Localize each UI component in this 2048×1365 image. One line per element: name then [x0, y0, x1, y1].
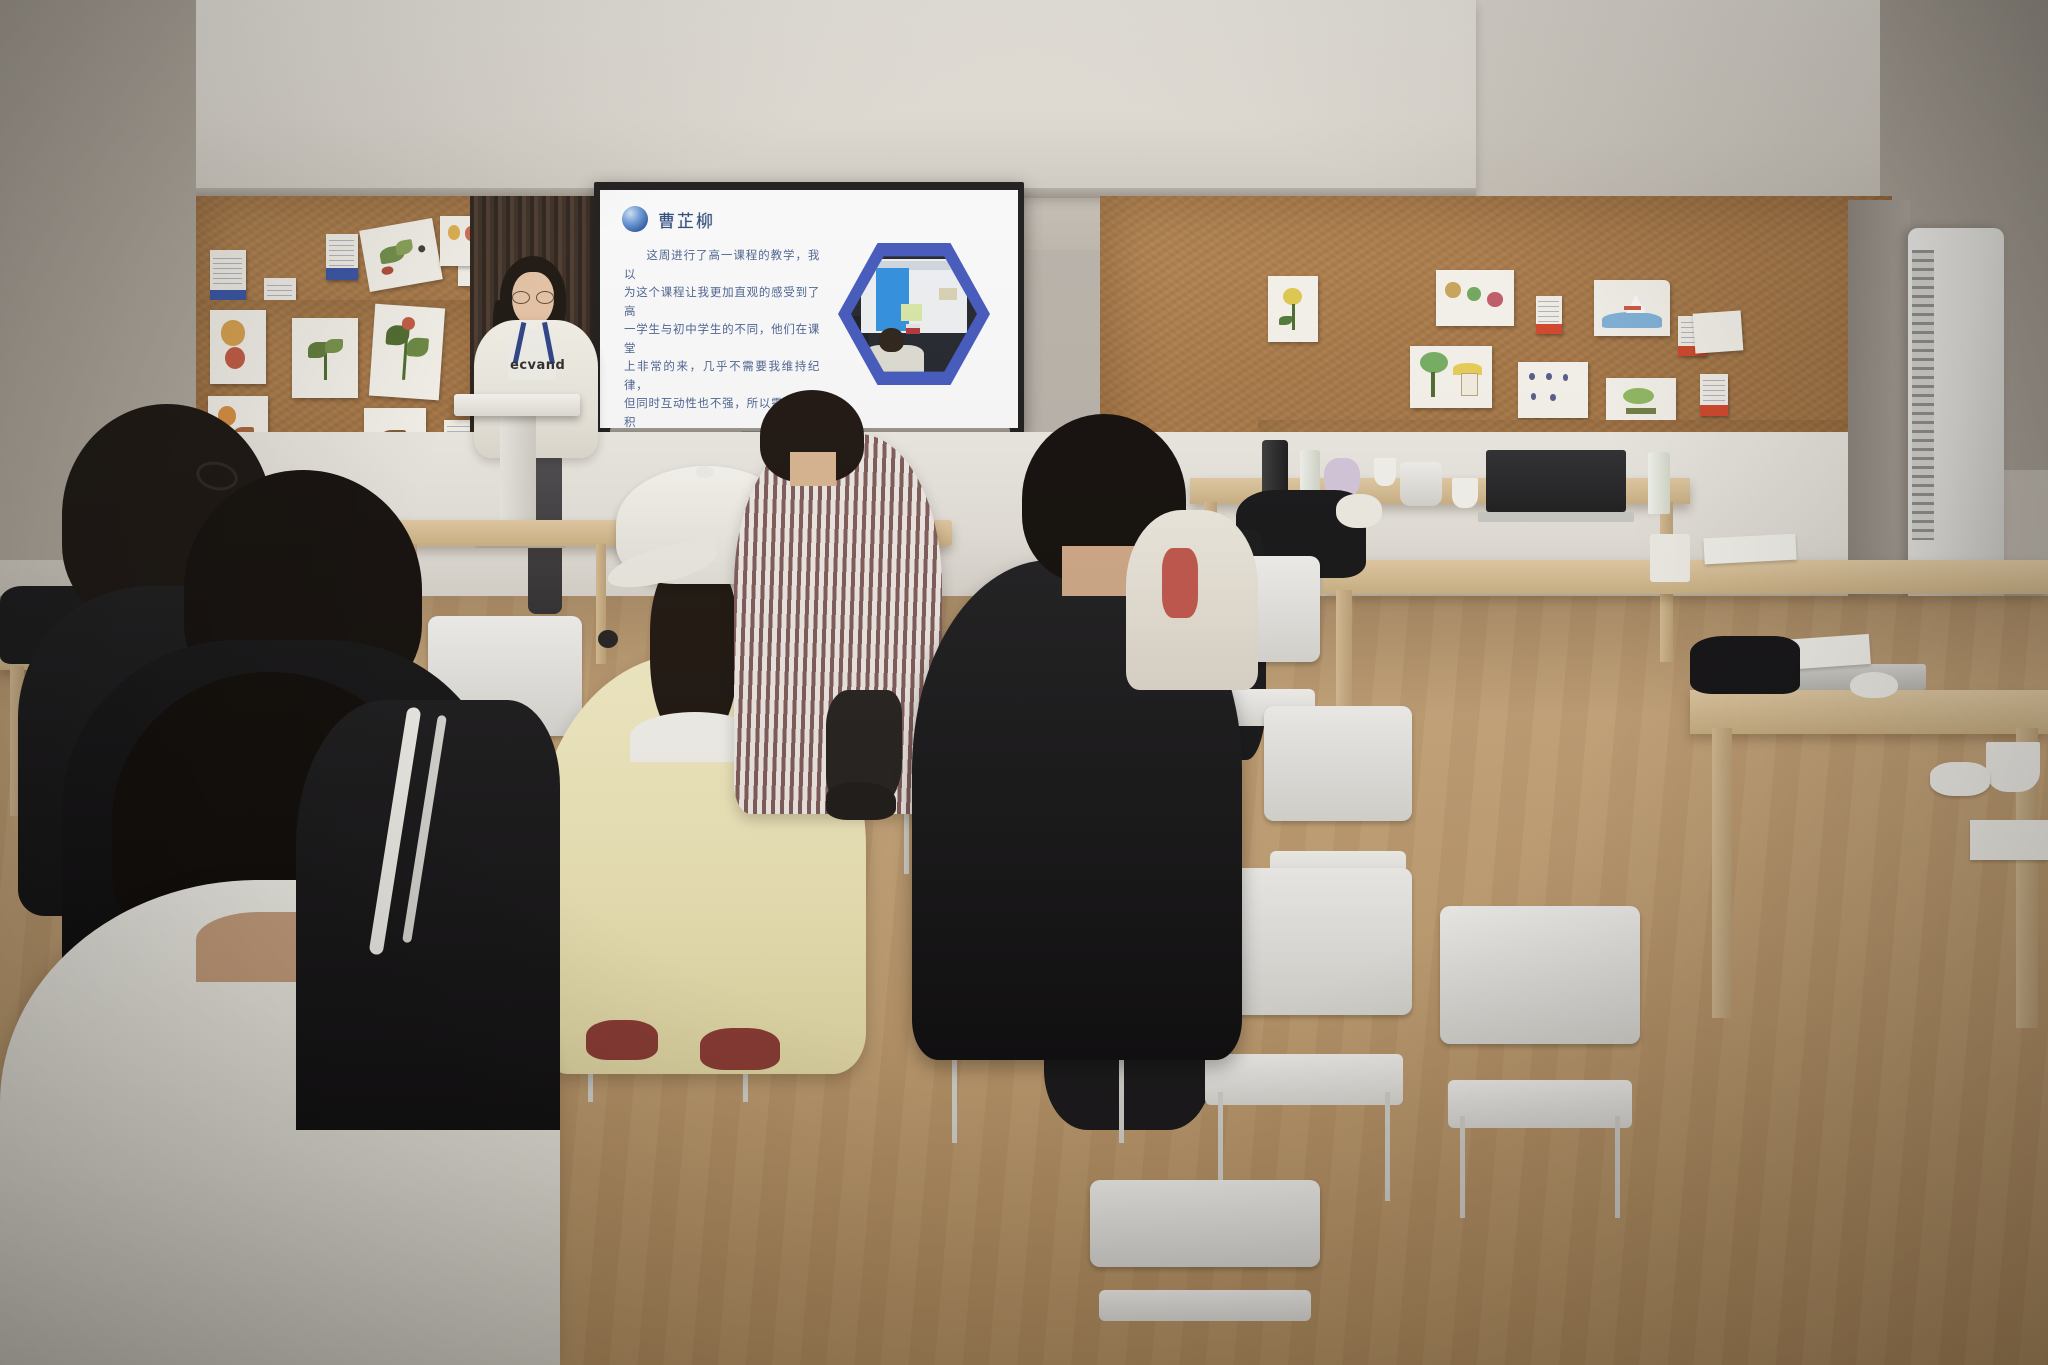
bullet-icon — [622, 206, 648, 232]
sailboat-drawing — [1594, 280, 1670, 336]
botanical-drawing — [369, 304, 445, 401]
water-bottle — [1648, 452, 1670, 514]
botanical-drawing — [292, 318, 358, 398]
note-card — [210, 250, 246, 304]
paper-cup — [1452, 478, 1478, 508]
shoe — [826, 782, 896, 820]
shoe — [700, 1028, 780, 1070]
black-jacket — [1690, 636, 1800, 694]
audience-cap-button — [696, 466, 714, 478]
note-card — [1536, 296, 1562, 334]
laptop[interactable] — [1486, 450, 1626, 512]
slide-body-line: 这周进行了高一课程的教学，我以 — [624, 246, 820, 283]
slide-body-line: 上非常的来，几乎不需要我维持纪律， — [624, 357, 820, 394]
photo-person-head — [879, 328, 904, 352]
photo-beige-card — [939, 288, 957, 300]
white-item-on-jacket — [1336, 494, 1382, 528]
note-card — [326, 234, 358, 280]
audience-rear-right-detail — [1162, 548, 1198, 618]
paper-cup — [1374, 458, 1396, 486]
audience-striped-sleeve-body — [296, 700, 560, 1130]
note-card — [1700, 374, 1728, 416]
note-sheet — [1693, 310, 1744, 353]
podium-top — [454, 394, 580, 416]
electric-kettle — [1400, 462, 1442, 506]
slide-title: 曹芷柳 — [658, 207, 715, 232]
child-drawing — [1436, 270, 1514, 326]
paper-cup — [1986, 742, 2040, 792]
flower-drawing — [1268, 276, 1318, 342]
photo-blue-panel — [876, 268, 909, 330]
audience-neck — [790, 452, 836, 486]
air-conditioner-vent — [1912, 250, 1934, 540]
handwriting-practice-sheet — [1518, 362, 1588, 418]
computer-mouse[interactable] — [1850, 672, 1898, 698]
wall-soffit-panel — [186, 0, 1476, 196]
child-drawing — [210, 310, 266, 384]
chair[interactable] — [1090, 1180, 1320, 1365]
tissue-box — [1650, 534, 1690, 582]
tree-and-mushroom-drawing — [1410, 346, 1492, 408]
table-leg — [1712, 728, 1732, 1018]
photo-red-card — [906, 324, 920, 335]
photo-green-card — [901, 304, 921, 321]
shoe — [586, 1020, 658, 1060]
slide-body-line: 为这个课程让我更加直观的感受到了高 — [624, 283, 820, 320]
presenter-glasses — [512, 291, 554, 302]
botanical-drawing — [359, 218, 443, 292]
slide-photo-hexagon — [838, 240, 990, 388]
papers — [1970, 820, 2048, 860]
classroom-photo: 曹芷柳 这周进行了高一课程的教学，我以为这个课程让我更加直观的感受到了高一学生与… — [0, 0, 2048, 1365]
papers — [1703, 534, 1796, 565]
chair[interactable] — [1440, 906, 1640, 1206]
bottle-on-floor — [598, 630, 618, 648]
tissue — [1930, 762, 1990, 796]
presenter-sweatshirt-text: ecvand — [510, 358, 562, 372]
slide-body-line: 一学生与初中学生的不同，他们在课堂 — [624, 320, 820, 357]
